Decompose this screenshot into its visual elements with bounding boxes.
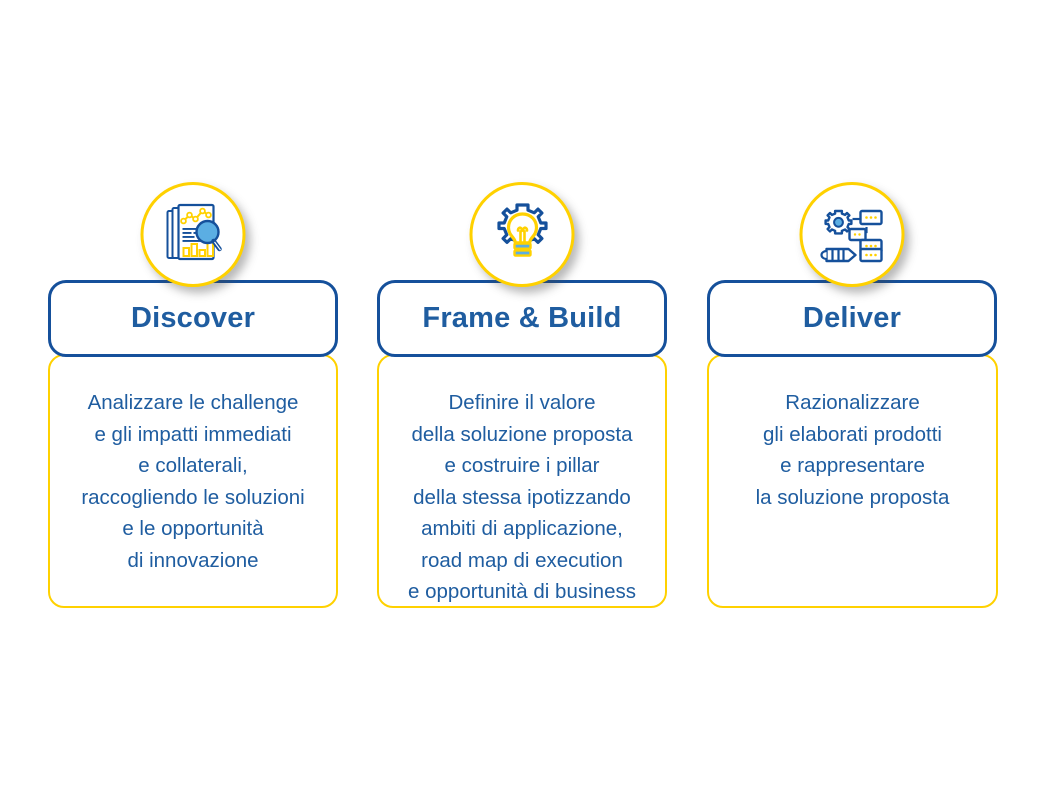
step-header-discover[interactable]: Discover [48,280,338,357]
diagram-canvas: Discover Analizzare le challenge e gli i… [0,0,1053,792]
step-body-text: Analizzare le challenge e gli impatti im… [50,387,336,576]
document-analytics-magnifier-icon [141,182,246,287]
step-header-frame-and-build[interactable]: Frame & Build [377,280,667,357]
step-body-card-deliver: Razionalizzare gli elaborati prodotti e … [707,354,998,608]
flowchart-pencil-gear-icon [800,182,905,287]
step-title: Frame & Build [422,304,621,333]
step-body-card-discover: Analizzare le challenge e gli impatti im… [48,354,338,608]
step-title: Deliver [803,304,901,333]
step-header-deliver[interactable]: Deliver [707,280,997,357]
step-body-card-frame-and-build: Definire il valore della soluzione propo… [377,354,667,608]
step-body-text: Razionalizzare gli elaborati prodotti e … [709,387,996,513]
step-title: Discover [131,304,255,333]
step-body-text: Definire il valore della soluzione propo… [379,387,665,608]
lightbulb-gear-icon [470,182,575,287]
